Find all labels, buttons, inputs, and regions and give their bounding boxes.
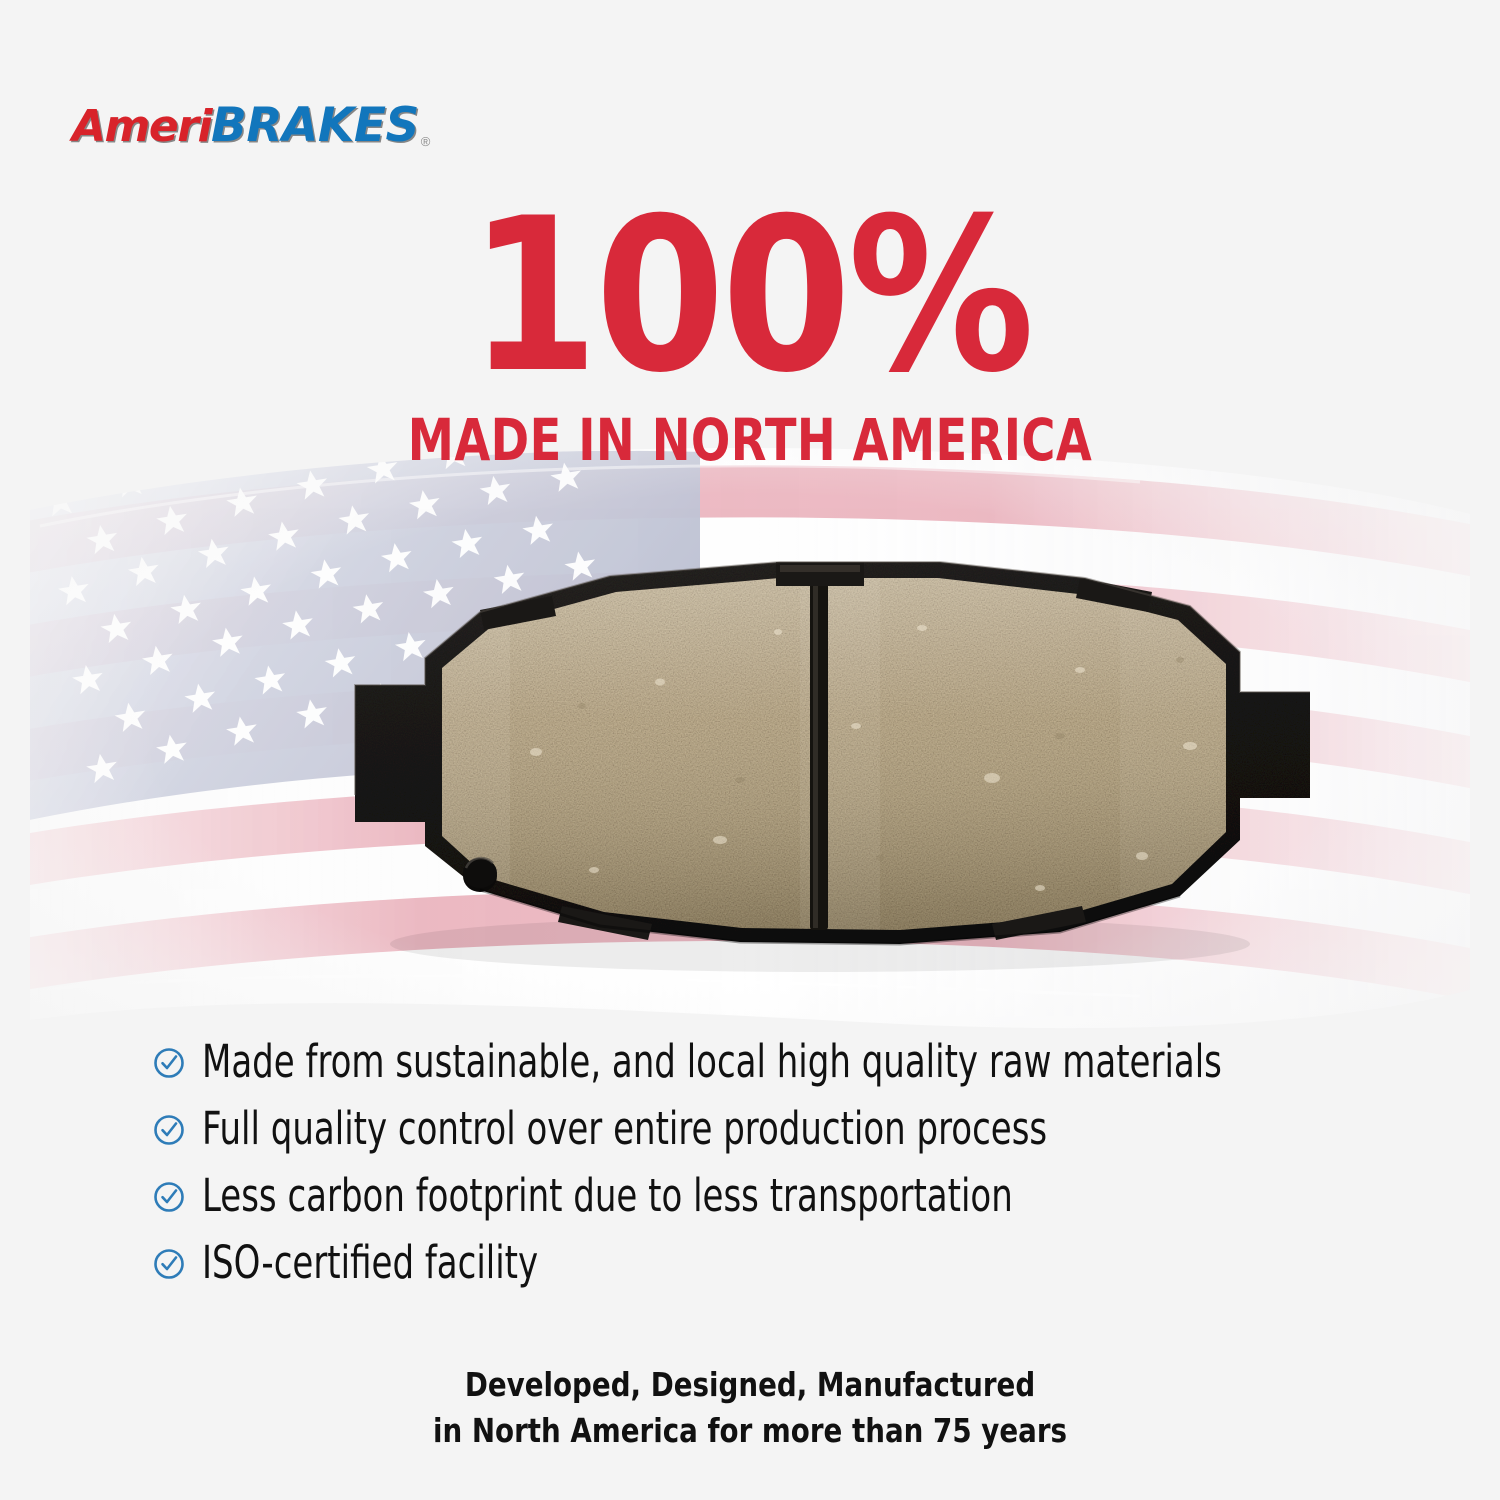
check-circle-icon <box>152 1046 186 1080</box>
promo-banner: AmeriBRAKES® <box>0 0 1500 1500</box>
check-circle-icon <box>152 1113 186 1147</box>
registered-trademark-icon: ® <box>421 134 431 153</box>
brake-pad-image <box>180 540 1360 1010</box>
ameribrakes-logo[interactable]: AmeriBRAKES® <box>72 98 430 153</box>
feature-label: Full quality control over entire product… <box>202 1105 1047 1152</box>
logo-ameri-text: Ameri <box>72 101 211 152</box>
headline-subtitle: MADE IN NORTH AMERICA <box>150 411 1350 469</box>
feature-label: Less carbon footprint due to less transp… <box>202 1172 1013 1219</box>
feature-label: Made from sustainable, and local high qu… <box>202 1038 1222 1085</box>
footer-line-1: Developed, Designed, Manufactured <box>120 1362 1380 1408</box>
logo-brakes-text: BRAKES <box>211 98 419 153</box>
feature-list: Made from sustainable, and local high qu… <box>152 1036 1372 1304</box>
headline-block: 100% MADE IN NORTH AMERICA <box>0 196 1500 469</box>
footer-line-2: in North America for more than 75 years <box>120 1408 1380 1454</box>
footer-block: Developed, Designed, Manufactured in Nor… <box>0 1362 1500 1453</box>
check-circle-icon <box>152 1247 186 1281</box>
list-item: ISO-certified facility <box>152 1237 1372 1289</box>
headline-percent: 100% <box>90 196 1410 395</box>
list-item: Full quality control over entire product… <box>152 1103 1372 1155</box>
brake-pad-svg <box>180 540 1360 1010</box>
list-item: Made from sustainable, and local high qu… <box>152 1036 1372 1088</box>
feature-label: ISO-certified facility <box>202 1239 538 1286</box>
pad-mounting-hole <box>463 858 497 892</box>
check-circle-icon <box>152 1180 186 1214</box>
list-item: Less carbon footprint due to less transp… <box>152 1170 1372 1222</box>
